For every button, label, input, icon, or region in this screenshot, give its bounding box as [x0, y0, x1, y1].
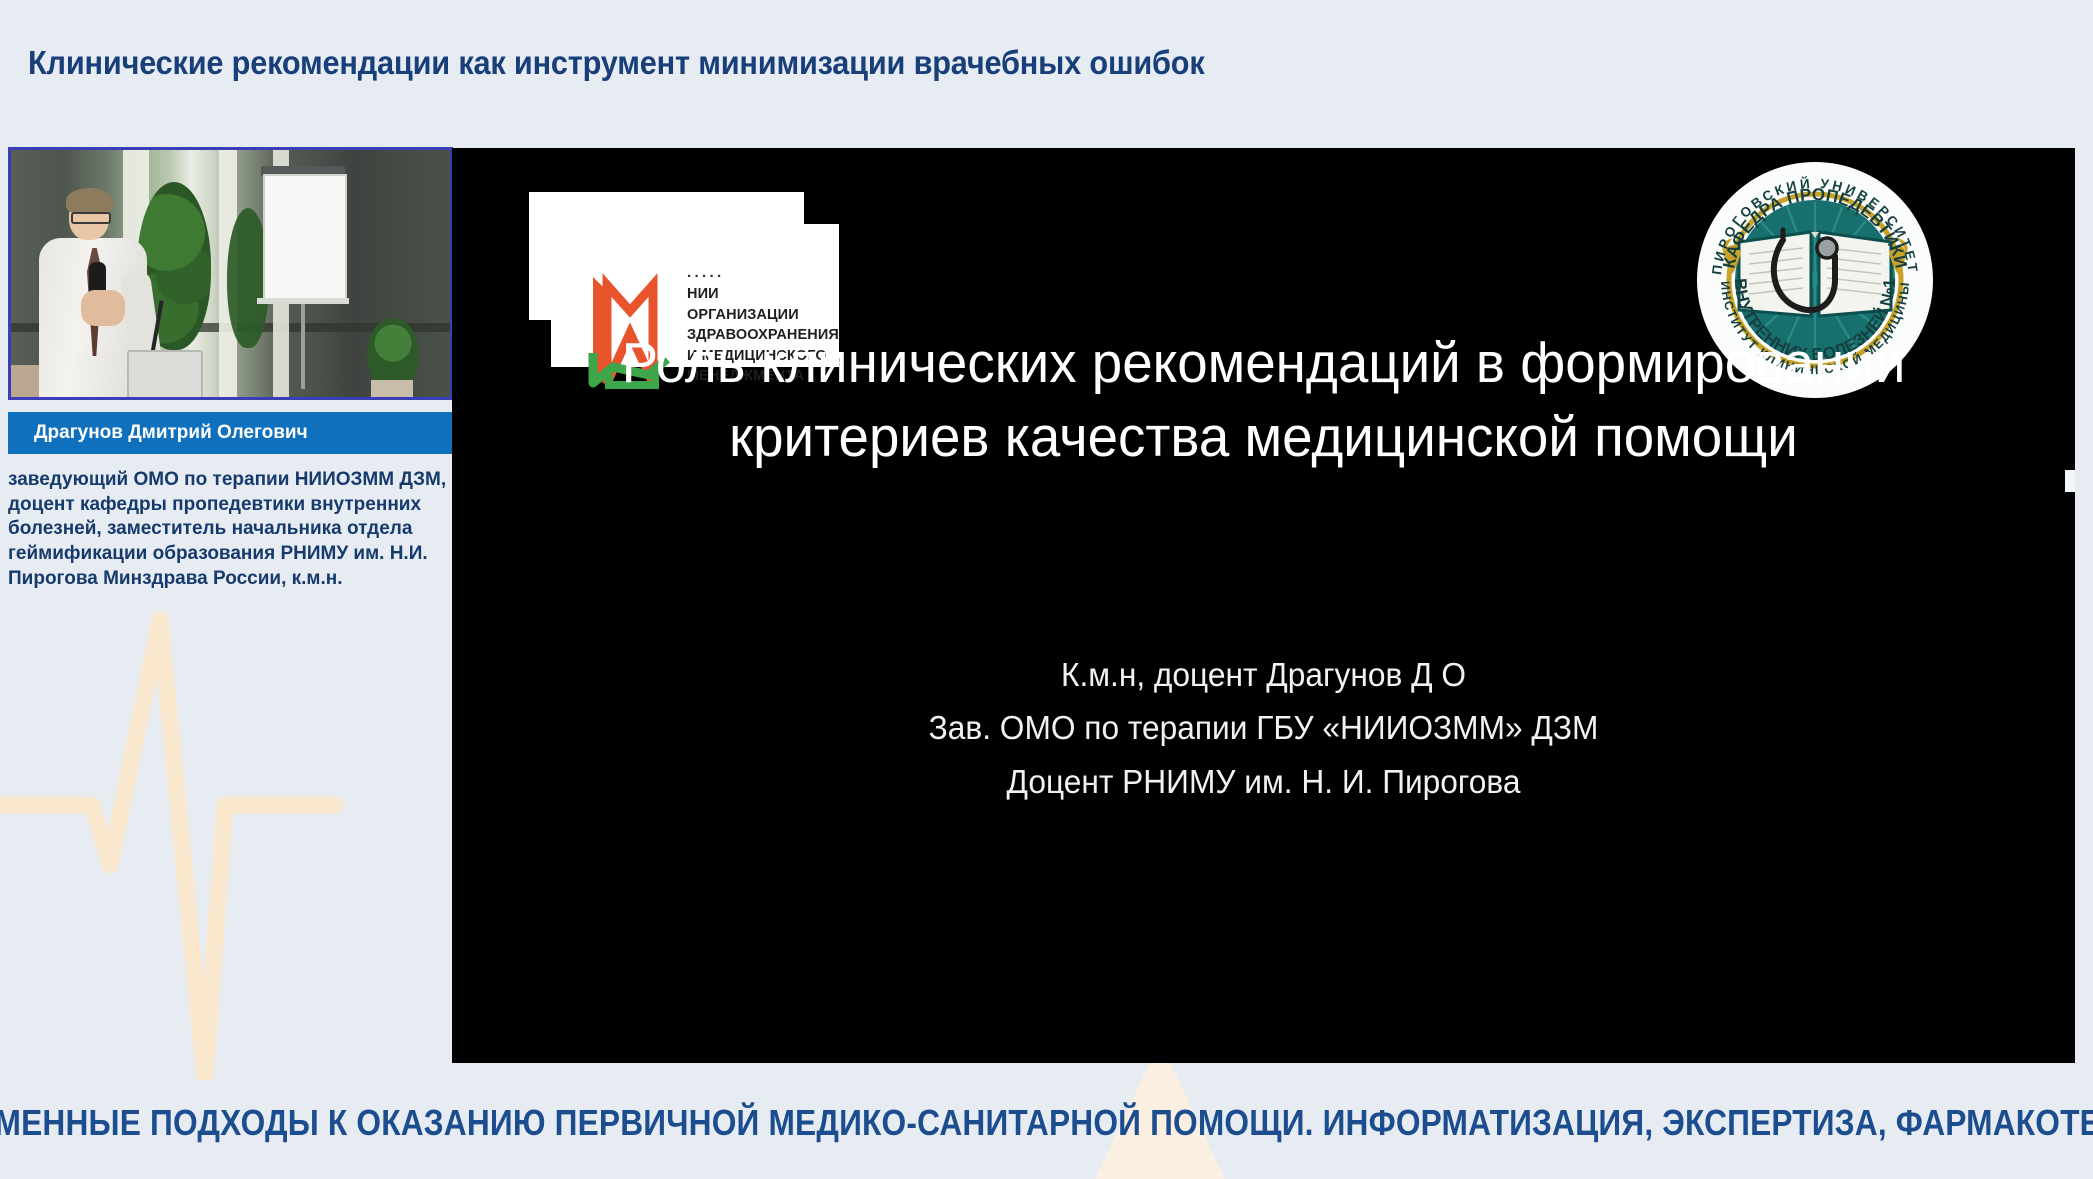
speaker-name-label: Драгунов Дмитрий Олегович [34, 422, 308, 444]
speaker-role-text: заведующий ОМО по терапии НИИОЗММ ДЗМ, д… [8, 468, 456, 591]
slide-subtitle-line-2: Зав. ОМО по терапии ГБУ «НИИОЗММ» ДЗМ [571, 701, 1956, 754]
video-plant-pot [371, 380, 413, 400]
page-title: Клинические рекомендации как инструмент … [28, 44, 1205, 82]
video-flipchart-leg [301, 299, 305, 389]
ecg-heartbeat-line [0, 580, 470, 1080]
nii-logo-line-2: ОРГАНИЗАЦИИ [687, 305, 837, 326]
nii-logo-dots: ····· [687, 269, 724, 284]
slide-edge-artifact [2065, 470, 2075, 492]
presentation-slide[interactable]: ····· НИИ ОРГАНИЗАЦИИ ЗДРАВООХРАНЕНИЯ И … [452, 148, 2075, 1063]
slide-title: Роль клинических рекомендаций в формиров… [571, 326, 1956, 474]
glasses-icon [71, 212, 111, 224]
video-table [257, 298, 349, 304]
footer-text: СОВРЕМЕННЫЕ ПОДХОДЫ К ОКАЗАНИЮ ПЕРВИЧНОЙ… [0, 1102, 2093, 1144]
video-laptop [127, 350, 203, 400]
slide-subtitle: К.м.н, доцент Драгунов Д О Зав. ОМО по т… [571, 648, 1956, 808]
footer-banner: СОВРЕМЕННЫЕ ПОДХОДЫ К ОКАЗАНИЮ ПЕРВИЧНОЙ… [0, 1092, 2093, 1154]
slide-subtitle-line-3: Доцент РНИМУ им. Н. И. Пирогова [571, 755, 1956, 808]
video-flipchart [263, 174, 347, 303]
nii-logo-line-1: НИИ [687, 284, 837, 305]
video-speaker-hands [81, 290, 125, 326]
speaker-video-feed[interactable] [8, 147, 453, 400]
slide-subtitle-line-1: К.м.н, доцент Драгунов Д О [571, 648, 1956, 701]
speaker-name-banner: Драгунов Дмитрий Олегович [8, 412, 453, 454]
video-speaker-hair [66, 188, 113, 214]
